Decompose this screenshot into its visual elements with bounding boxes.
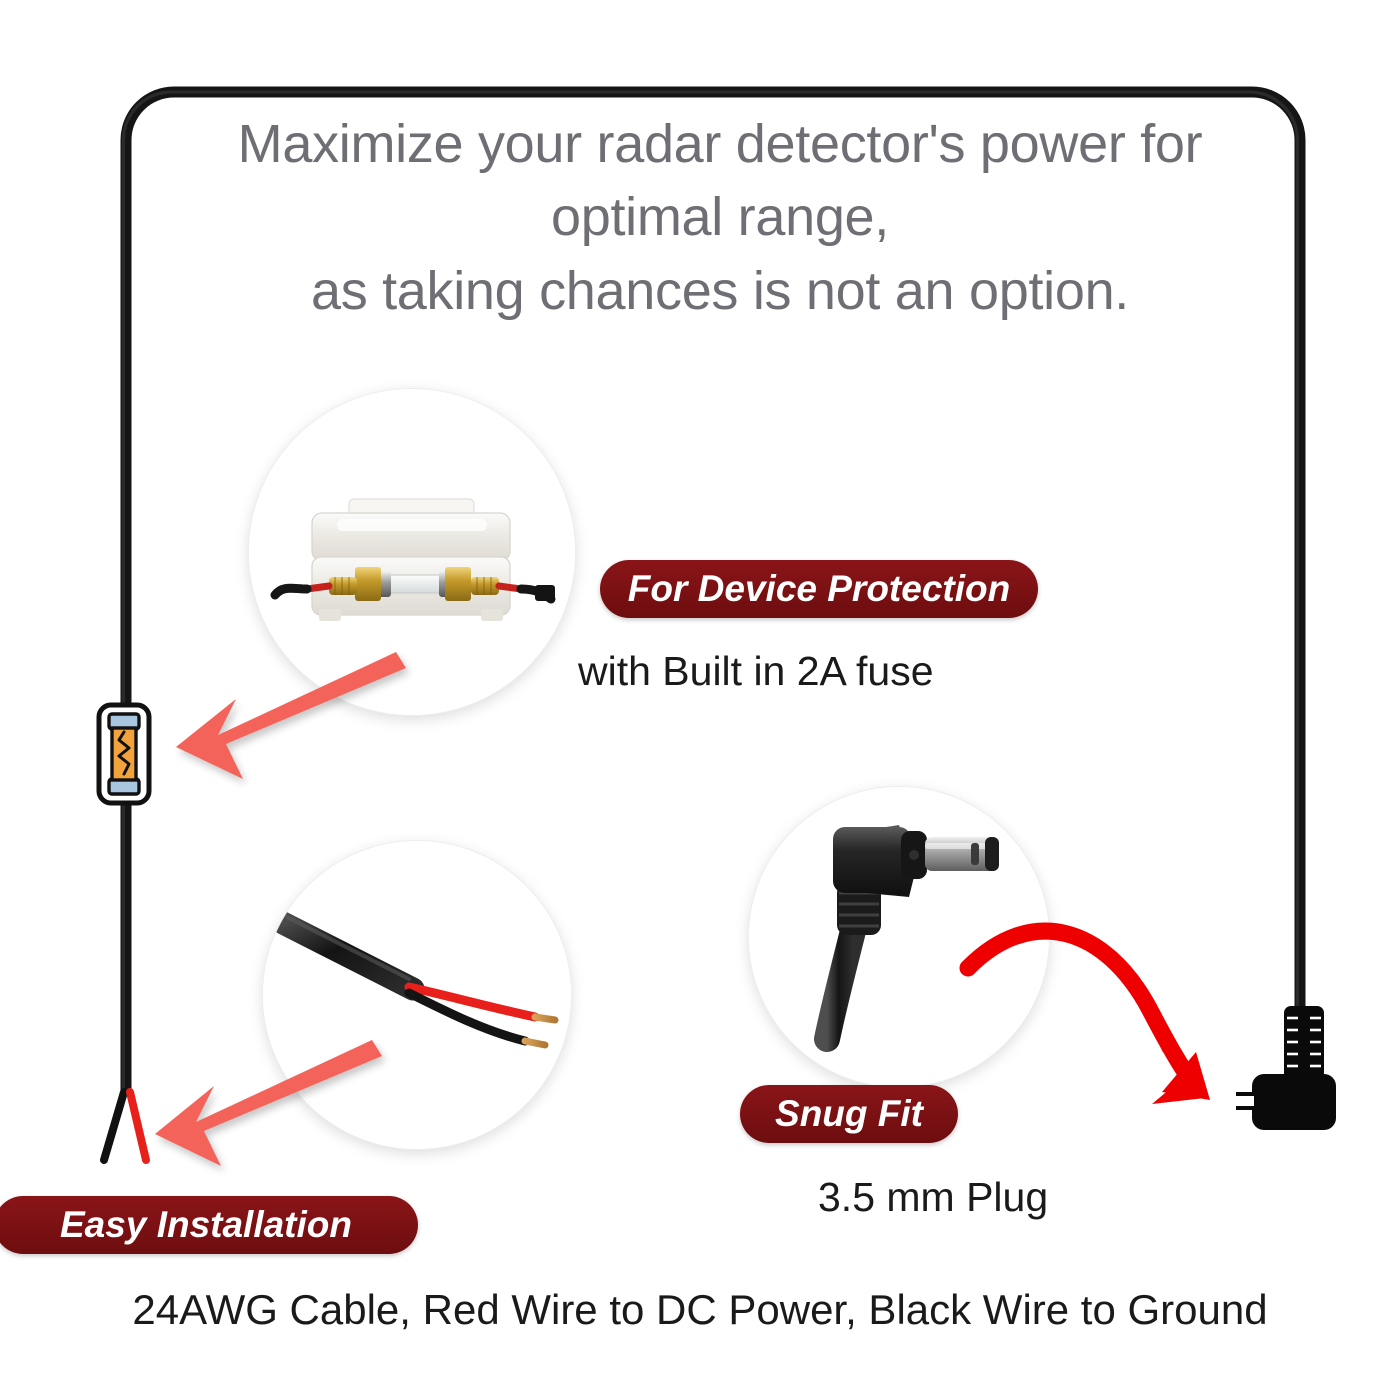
dc-plug-illustration (749, 787, 1049, 1087)
infographic-canvas: Maximize your radar detector's power for… (0, 0, 1400, 1400)
fuse-holder-illustration (249, 389, 575, 715)
caption-fuse: with Built in 2A fuse (578, 648, 934, 695)
badge-easy-installation: Easy Installation (0, 1196, 418, 1254)
photo-fuse-holder (248, 388, 576, 716)
photo-dc-plug (748, 786, 1050, 1088)
stripped-cable-illustration (263, 841, 571, 1149)
cable-end-barrel-plug (1236, 1002, 1384, 1138)
footer-caption: 24AWG Cable, Red Wire to DC Power, Black… (0, 1286, 1400, 1334)
badge-for-device-protection: For Device Protection (600, 560, 1038, 618)
inline-fuse-icon (96, 702, 152, 806)
page-title: Maximize your radar detector's power for… (150, 108, 1290, 328)
caption-plug: 3.5 mm Plug (818, 1174, 1048, 1221)
photo-stripped-cable (262, 840, 572, 1150)
badge-snug-fit: Snug Fit (740, 1085, 958, 1143)
